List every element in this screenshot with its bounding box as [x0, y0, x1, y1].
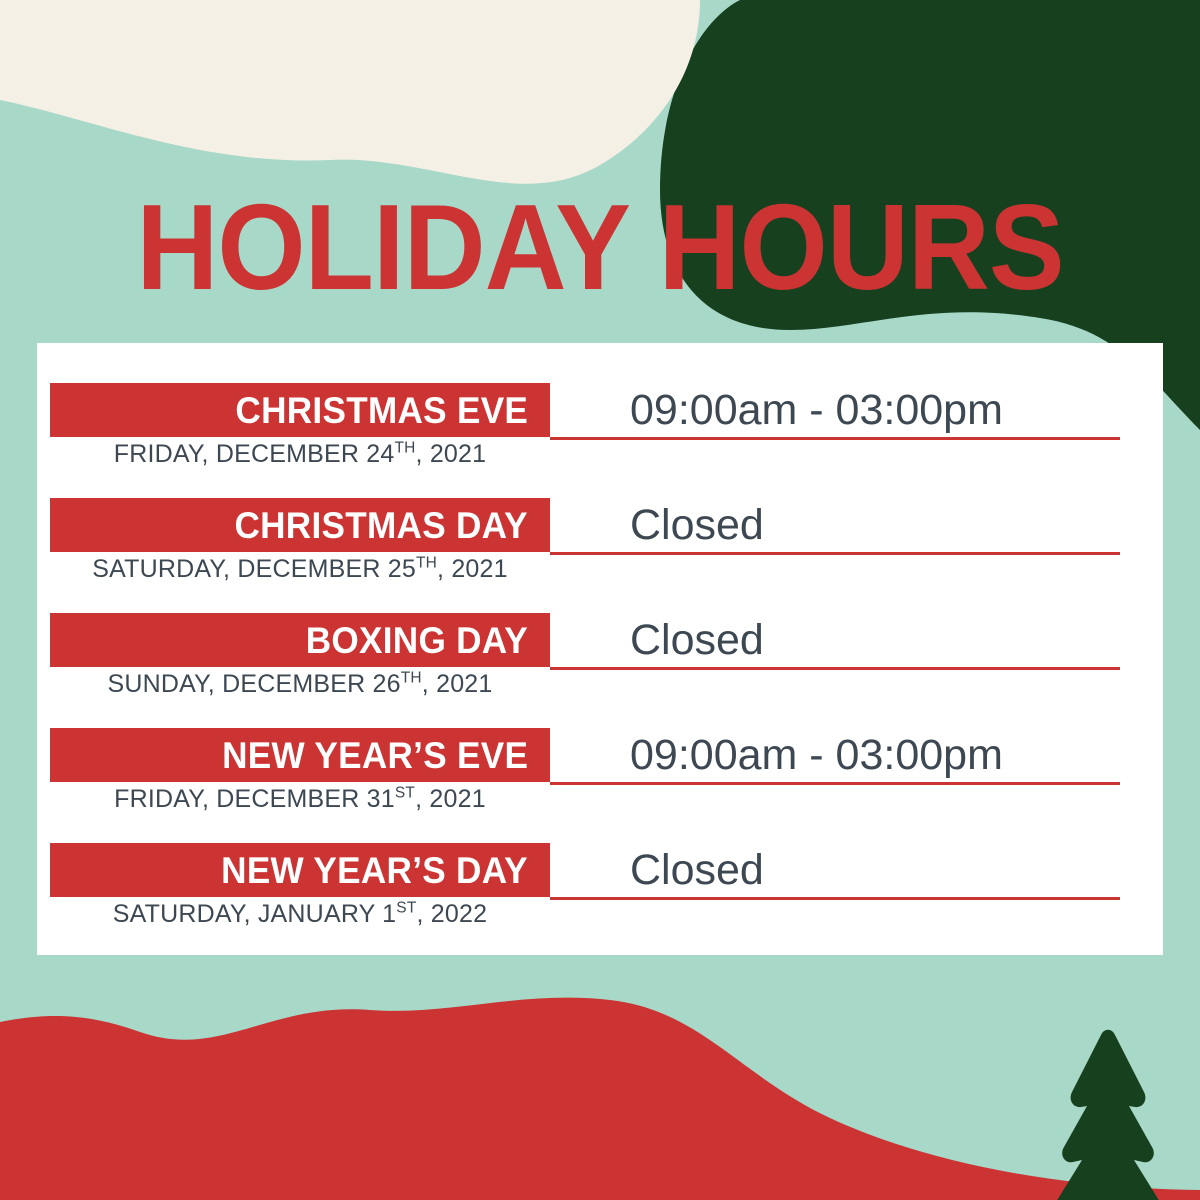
holiday-date-ordinal: ST [396, 900, 416, 917]
holiday-date-suffix: , 2021 [422, 670, 493, 698]
holiday-date: FRIDAY, DECEMBER 24TH, 2021 [50, 439, 550, 470]
holiday-name-bar: NEW YEAR’S DAY [50, 843, 550, 897]
holiday-name-bar: CHRISTMAS EVE [50, 383, 550, 437]
holiday-date-prefix: FRIDAY, DECEMBER 31 [114, 785, 395, 813]
holiday-date: SATURDAY, JANUARY 1ST, 2022 [50, 899, 550, 930]
holiday-hours-value: 09:00am - 03:00pm [630, 389, 1003, 432]
holiday-date-ordinal: TH [394, 440, 415, 457]
holiday-date-ordinal: ST [395, 785, 415, 802]
holiday-date-prefix: SUNDAY, DECEMBER 26 [107, 670, 400, 698]
page-title: HOLIDAY HOURS [42, 186, 1158, 308]
table-row: NEW YEAR’S DAY SATURDAY, JANUARY 1ST, 20… [37, 843, 1163, 958]
holiday-hours-cell: Closed [550, 498, 1120, 555]
table-row: CHRISTMAS EVE FRIDAY, DECEMBER 24TH, 202… [37, 383, 1163, 498]
holiday-date-prefix: SATURDAY, DECEMBER 25 [92, 555, 416, 583]
holiday-name: BOXING DAY [306, 622, 528, 659]
holiday-hours-cell: Closed [550, 613, 1120, 670]
holiday-date-prefix: FRIDAY, DECEMBER 24 [114, 440, 395, 468]
holiday-hours-cell: 09:00am - 03:00pm [550, 383, 1120, 440]
holiday-hours-value: 09:00am - 03:00pm [630, 734, 1003, 777]
holiday-name-bar: NEW YEAR’S EVE [50, 728, 550, 782]
holiday-date-ordinal: TH [401, 670, 422, 687]
holiday-name: NEW YEAR’S DAY [221, 852, 528, 889]
holiday-date-suffix: , 2021 [437, 555, 508, 583]
holiday-date-suffix: , 2021 [416, 440, 487, 468]
holiday-date: FRIDAY, DECEMBER 31ST, 2021 [50, 784, 550, 815]
holiday-date-suffix: , 2021 [415, 785, 486, 813]
holiday-hours-value: Closed [630, 504, 764, 547]
holiday-hours-cell: 09:00am - 03:00pm [550, 728, 1120, 785]
holiday-date-ordinal: TH [416, 555, 437, 572]
holiday-date-suffix: , 2022 [417, 900, 488, 928]
holiday-name: CHRISTMAS EVE [235, 392, 528, 429]
holiday-date: SUNDAY, DECEMBER 26TH, 2021 [50, 669, 550, 700]
holiday-name-bar: CHRISTMAS DAY [50, 498, 550, 552]
table-row: BOXING DAY SUNDAY, DECEMBER 26TH, 2021 C… [37, 613, 1163, 728]
holiday-hours-value: Closed [630, 619, 764, 662]
holiday-name-bar: BOXING DAY [50, 613, 550, 667]
holiday-name: CHRISTMAS DAY [235, 507, 528, 544]
holiday-hours-value: Closed [630, 849, 764, 892]
holiday-hours-card: CHRISTMAS EVE FRIDAY, DECEMBER 24TH, 202… [37, 343, 1163, 955]
holiday-hours-poster: HOLIDAY HOURS CHRISTMAS EVE FRIDAY, DECE… [0, 0, 1200, 1200]
holiday-date: SATURDAY, DECEMBER 25TH, 2021 [50, 554, 550, 585]
table-row: NEW YEAR’S EVE FRIDAY, DECEMBER 31ST, 20… [37, 728, 1163, 843]
holiday-hours-cell: Closed [550, 843, 1120, 900]
holiday-name: NEW YEAR’S EVE [222, 737, 528, 774]
table-row: CHRISTMAS DAY SATURDAY, DECEMBER 25TH, 2… [37, 498, 1163, 613]
holiday-date-prefix: SATURDAY, JANUARY 1 [113, 900, 397, 928]
